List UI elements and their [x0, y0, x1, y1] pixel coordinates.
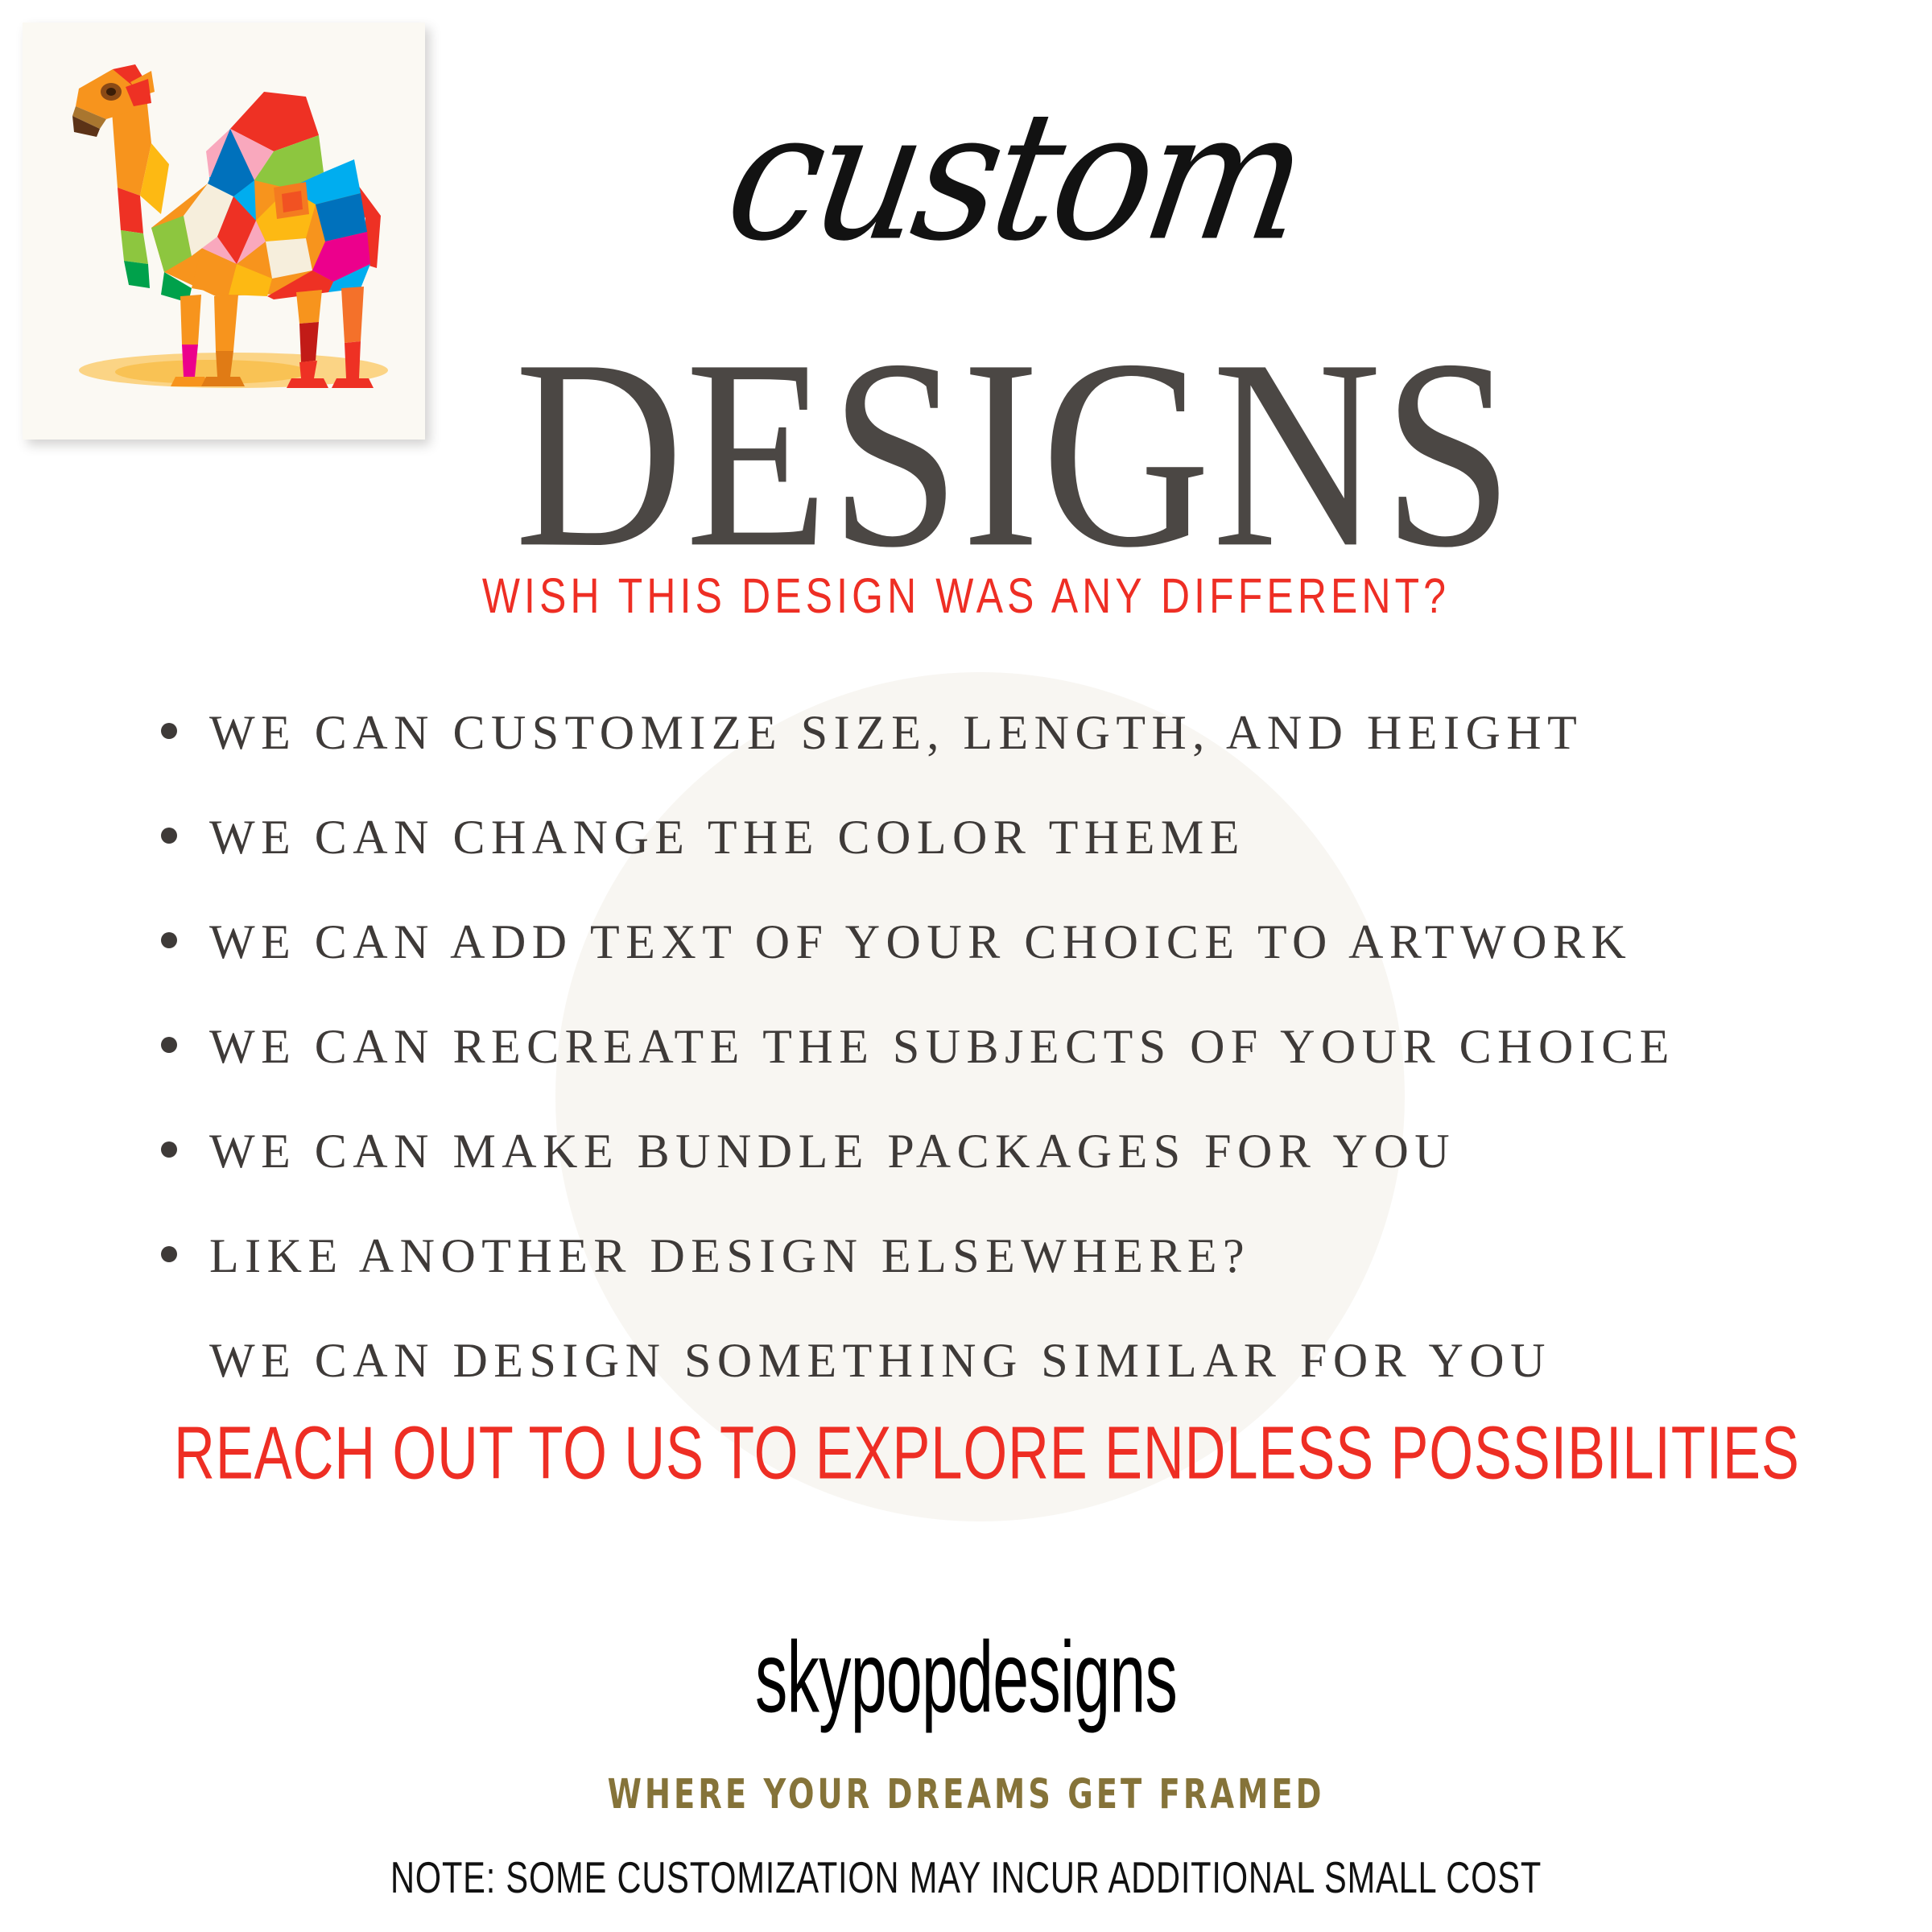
bullet-dot-icon	[161, 828, 177, 844]
headline-main-text: DESIGNS	[514, 324, 1514, 584]
bullet-dot-icon	[161, 1037, 177, 1053]
list-item-label: WE CAN DESIGN SOMETHING SIMILAR FOR YOU	[209, 1336, 1551, 1385]
list-item: LIKE ANOTHER DESIGN ELSEWHERE?	[0, 1232, 1932, 1336]
promotional-poster: custom DESIGNS WISH THIS DESIGN WAS ANY …	[0, 0, 1932, 1932]
list-item: WE CAN CHANGE THE COLOR THEME	[0, 813, 1932, 918]
list-item-label: LIKE ANOTHER DESIGN ELSEWHERE?	[209, 1232, 1250, 1280]
call-to-action[interactable]: REACH OUT TO US TO EXPLORE ENDLESS POSSI…	[174, 1416, 1758, 1491]
list-item: WE CAN MAKE BUNDLE PACKAGES FOR YOU	[0, 1127, 1932, 1232]
list-item: WE CAN CUSTOMIZE SIZE, LENGTH, AND HEIGH…	[0, 708, 1932, 813]
tagline-question: WISH THIS DESIGN WAS ANY DIFFERENT?	[135, 572, 1797, 621]
footnote-note: NOTE: SOME CUSTOMIZATION MAY INCUR ADDIT…	[193, 1856, 1739, 1901]
brand-tagline: WHERE YOUR DREAMS GET FRAMED	[193, 1774, 1739, 1815]
list-item-label: WE CAN CUSTOMIZE SIZE, LENGTH, AND HEIGH…	[209, 708, 1583, 757]
list-item-label: WE CAN MAKE BUNDLE PACKAGES FOR YOU	[209, 1127, 1455, 1175]
bullet-dot-icon	[161, 932, 177, 948]
list-item-label: WE CAN CHANGE THE COLOR THEME	[209, 813, 1245, 861]
list-item: WE CAN RECREATE THE SUBJECTS OF YOUR CHO…	[0, 1022, 1932, 1127]
brand-wordmark: skypopdesigns	[270, 1627, 1662, 1728]
list-item: WE CAN ADD TEXT OF YOUR CHOICE TO ARTWOR…	[0, 918, 1932, 1022]
bullet-dot-icon	[161, 1141, 177, 1158]
headline-script-text: custom	[716, 89, 1311, 266]
headline-main: DESIGNS	[0, 324, 1932, 555]
bullet-dot-icon	[161, 723, 177, 739]
list-item-label: WE CAN RECREATE THE SUBJECTS OF YOUR CHO…	[209, 1022, 1675, 1071]
feature-list: WE CAN CUSTOMIZE SIZE, LENGTH, AND HEIGH…	[0, 708, 1932, 1433]
list-item-label: WE CAN ADD TEXT OF YOUR CHOICE TO ARTWOR…	[209, 918, 1632, 966]
bullet-dot-icon	[161, 1246, 177, 1262]
